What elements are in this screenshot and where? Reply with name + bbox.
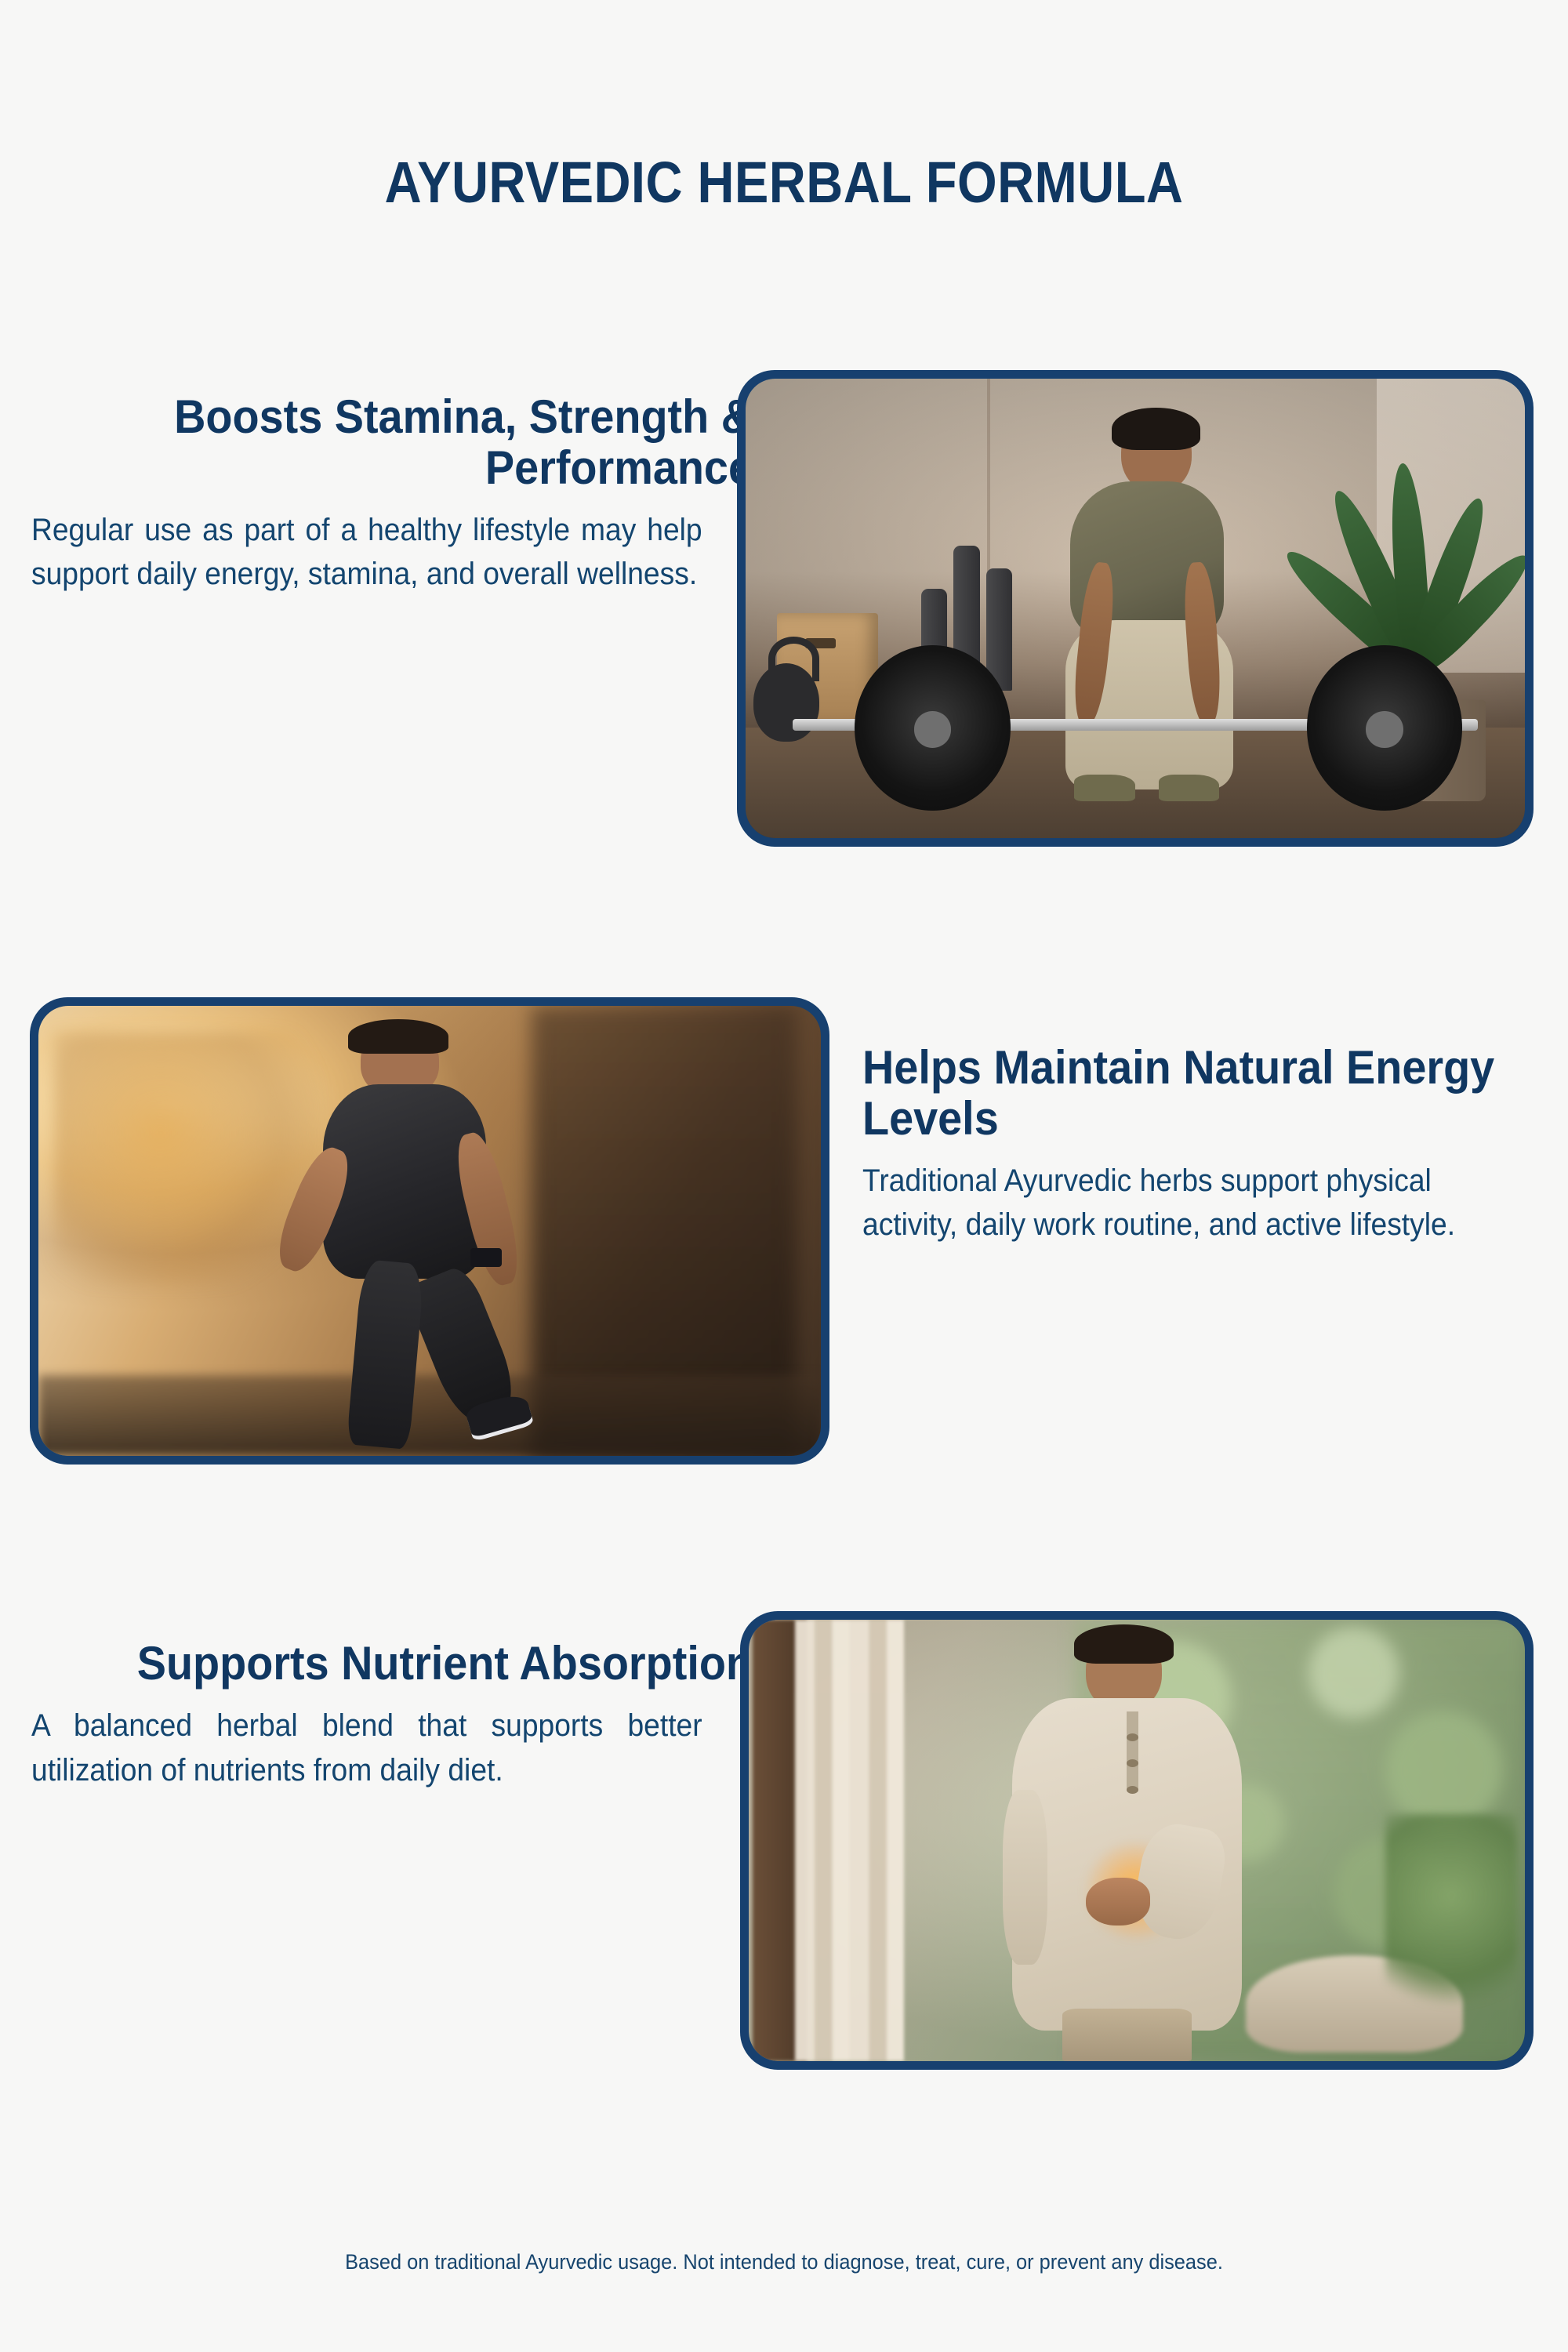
benefit-2-image-card — [30, 997, 829, 1465]
infographic-page: AYURVEDIC HERBAL FORMULA Boosts Stamina,… — [0, 0, 1568, 2352]
gym-athlete-hair — [1112, 408, 1200, 450]
outdoor-runner-photo — [38, 1006, 821, 1456]
gym-deadlift-photo — [746, 379, 1525, 838]
benefit-3-body: A balanced herbal blend that supports be… — [31, 1704, 702, 1793]
benefit-2-text-block: Helps Maintain Natural Energy Levels Tra… — [862, 1043, 1544, 1247]
calm-linen-curtain — [795, 1620, 904, 2061]
gym-athlete-right-shoe — [1159, 775, 1220, 801]
benefit-2-body: Traditional Ayurvedic herbs support phys… — [862, 1159, 1497, 1248]
benefit-1-body: Regular use as part of a healthy lifesty… — [31, 508, 702, 597]
gym-athlete-figure — [1042, 416, 1276, 801]
calm-man-figure — [997, 1624, 1292, 2061]
calm-shirt-placket — [1127, 1711, 1138, 1790]
calm-man-trousers — [1062, 2009, 1192, 2061]
footer-disclaimer: Based on traditional Ayurvedic usage. No… — [47, 2250, 1521, 2274]
gym-athlete-left-shoe — [1074, 775, 1135, 801]
benefit-3-image-card — [740, 1611, 1534, 2070]
barbell-plate-left — [855, 645, 1011, 811]
calm-digestion-photo — [749, 1620, 1525, 2061]
calm-potted-shrub — [1385, 1814, 1517, 2017]
page-title: AYURVEDIC HERBAL FORMULA — [94, 154, 1474, 212]
benefit-1-text-block: Boosts Stamina, Strength & Performance R… — [31, 392, 753, 597]
runner-front-leg — [347, 1259, 425, 1450]
calm-man-hair — [1074, 1624, 1174, 1664]
calm-man-left-arm — [1003, 1790, 1047, 1965]
benefit-1-heading: Boosts Stamina, Strength & Performance — [82, 392, 753, 494]
runner-hair — [348, 1019, 448, 1054]
benefit-2-heading: Helps Maintain Natural Energy Levels — [862, 1043, 1497, 1145]
barbell-plate-right — [1307, 645, 1463, 811]
benefit-1-image-card — [737, 370, 1534, 847]
benefit-3-text-block: Supports Nutrient Absorption A balanced … — [31, 1639, 753, 1792]
calm-man-hand-on-stomach — [1086, 1878, 1151, 1926]
runner-figure — [273, 1019, 586, 1451]
smartwatch-icon — [470, 1248, 502, 1267]
benefit-3-heading: Supports Nutrient Absorption — [82, 1639, 753, 1690]
